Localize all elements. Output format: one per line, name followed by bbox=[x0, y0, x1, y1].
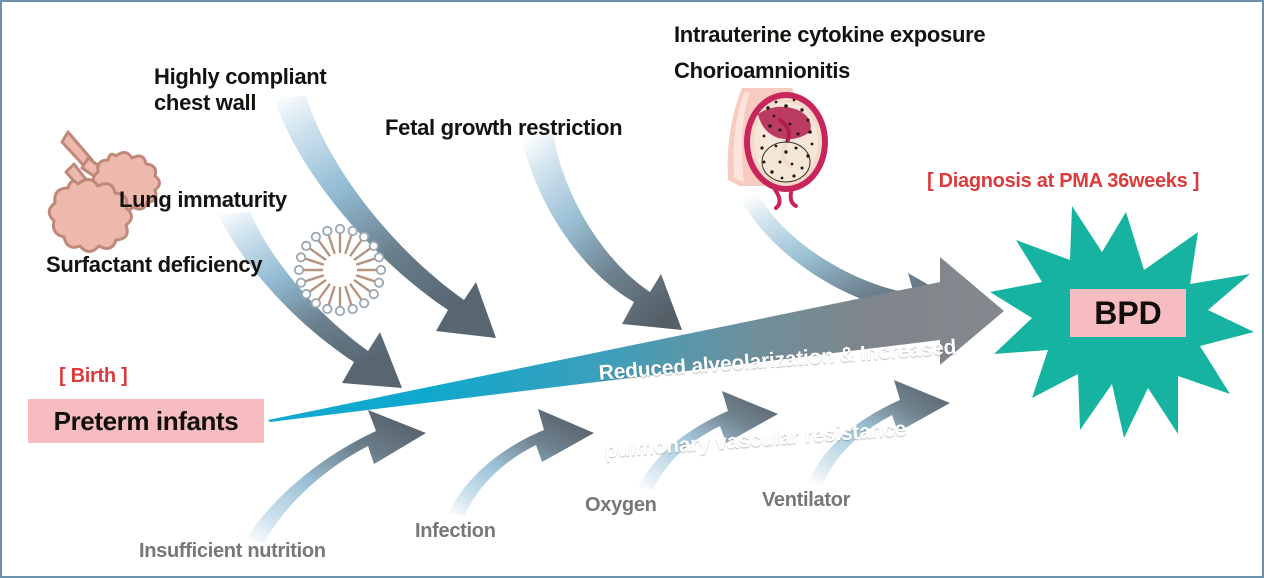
label-intrauterine-cytokine-exposure: Intrauterine cytokine exposure bbox=[674, 22, 985, 48]
pathway-arrow-text: Reduced alveolarization & Increased pulm… bbox=[594, 277, 1028, 517]
arrow-insufficient-nutrition bbox=[246, 410, 426, 543]
label-diagnosis-timepoint: [ Diagnosis at PMA 36weeks ] bbox=[927, 170, 1199, 194]
label-birth-timepoint: [ Birth ] bbox=[59, 365, 127, 389]
label-insufficient-nutrition: Insufficient nutrition bbox=[139, 540, 326, 564]
label-highly-compliant-chest-wall: Highly compliant chest wall bbox=[154, 64, 326, 116]
pathway-text-line-2: pulmonary vascular resistance bbox=[604, 408, 1025, 465]
label-surfactant-deficiency: Surfactant deficiency bbox=[46, 252, 262, 278]
label-fetal-growth-restriction: Fetal growth restriction bbox=[385, 115, 622, 141]
label-chorioamnionitis: Chorioamnionitis bbox=[674, 58, 850, 84]
bpd-pathogenesis-figure: Highly compliant chest wall Lung immatur… bbox=[0, 0, 1264, 578]
preterm-infants-box: Preterm infants bbox=[28, 399, 264, 443]
pathway-text-line-1: Reduced alveolarization & Increased bbox=[598, 330, 1019, 387]
label-lung-immaturity: Lung immaturity bbox=[119, 187, 287, 213]
label-infection: Infection bbox=[415, 520, 496, 544]
arrow-fetal-growth-restriction bbox=[520, 128, 682, 330]
pregnant-abdomen-icon bbox=[728, 88, 828, 208]
bpd-outcome-box: BPD bbox=[1070, 289, 1186, 337]
arrow-infection bbox=[448, 409, 594, 516]
